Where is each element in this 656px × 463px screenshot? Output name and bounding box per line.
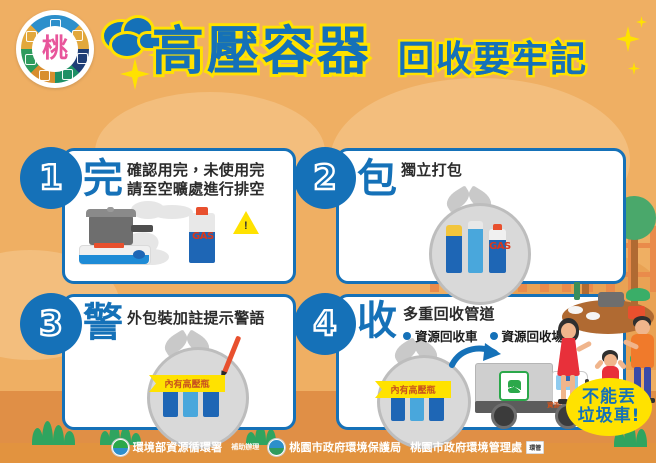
arm (617, 359, 627, 370)
card-step-1[interactable]: 完 確認用完，未使用完 請至空曠處進行排空 GAS (62, 148, 296, 284)
page-title: 高壓容器 高壓容器 回收要牢記 回收要牢記 (130, 20, 650, 100)
can-bottom (446, 236, 462, 273)
footer-note: 補助辦理 (231, 442, 259, 452)
footer-org-3: 桃園市政府環境管理處 環管 (410, 439, 544, 455)
card-3-illustration: 內有高壓瓶 (123, 339, 263, 425)
footer-org-3-label: 桃園市政府環境管理處 (410, 439, 522, 455)
head (635, 320, 650, 335)
pot-handle (131, 225, 153, 232)
ministry-logo-icon (112, 439, 129, 456)
card-step-2[interactable]: 包 獨立打包 GAS (336, 148, 626, 284)
bullet-dot-icon (403, 332, 411, 340)
card-3-desc-line-1: 外包裝加註提示警語 (127, 309, 265, 327)
taoyuan-epb-logo-icon (268, 439, 285, 456)
card-1-illustration: GAS (77, 203, 277, 275)
warning-ribbon: 內有高壓瓶 (149, 375, 225, 392)
stove-knob (133, 250, 145, 259)
card-1-desc-line-1: 確認用完，未使用完 (127, 161, 265, 179)
canister-top (189, 213, 215, 232)
logo-pip (39, 70, 50, 81)
card-step-3[interactable]: 警 外包裝加註提示警語 內有高壓瓶 (62, 294, 296, 430)
gas-label: GAS (192, 231, 214, 242)
card-3-big-char: 警 (83, 303, 123, 343)
bullet-label: 資源回收車 (415, 326, 478, 345)
torso (557, 338, 580, 376)
bush (626, 288, 650, 301)
bullet-dot-icon (490, 332, 498, 340)
canister-cap (196, 207, 208, 215)
truck-wheel (491, 403, 517, 429)
bbq-grill (598, 292, 624, 307)
step-badge-3: 3 (20, 293, 82, 355)
bullet-item: 資源回收車 (403, 326, 478, 345)
step-badge-4: 4 (294, 293, 356, 355)
step-number-4: 4 (313, 307, 337, 341)
stove-flame (94, 243, 124, 248)
card-2-illustration: GAS (421, 195, 531, 277)
can-bottom (468, 229, 483, 273)
title-main: 高壓容器 (152, 26, 372, 78)
step-number-2: 2 (313, 161, 337, 195)
card-2-desc-line-1: 獨立打包 (401, 161, 462, 179)
taoyuan-city-logo: 桃 (16, 10, 94, 88)
logo-pip (50, 19, 61, 30)
plate (586, 312, 600, 320)
torso (631, 334, 654, 368)
can-top (468, 221, 483, 229)
step-badge-2: 2 (294, 147, 356, 209)
footer-org-1-label: 環境部資源循環署 (133, 439, 223, 455)
callout-bubble: 不能丟 垃圾車! (566, 378, 652, 436)
logo-character: 桃 (16, 36, 94, 62)
card-4-desc-line-1: 多重回收管道 (403, 305, 495, 323)
title-sub: 回收要牢記 (398, 42, 588, 78)
can-top (446, 225, 462, 236)
poster-root: 不能丟 垃圾車! 桃 高壓容器 高壓容器 回收要牢記 回收要牢記 完 確認用完，… (0, 0, 656, 463)
warning-ribbon: 內有高壓瓶 (375, 381, 451, 398)
footer-org-2-label: 桃園市政府環境保護局 (289, 439, 401, 455)
arrow-icon (449, 341, 503, 371)
plate (568, 306, 583, 314)
warning-icon (233, 211, 259, 234)
ribbon-label: 內有高壓瓶 (164, 377, 209, 390)
spray-can (446, 225, 462, 273)
card-4-bullets: 資源回收車 資源回收場 (403, 326, 564, 345)
callout-line-1: 不能丟 (582, 388, 636, 407)
steam-puff (151, 205, 193, 219)
leg (561, 375, 566, 401)
logo-pip (62, 69, 73, 80)
card-4-big-char: 收 (357, 301, 397, 341)
pot-knob (107, 207, 114, 212)
bottle (574, 282, 580, 300)
card-1-big-char: 完 (83, 159, 123, 199)
can-cap (493, 224, 502, 230)
card-1-desc-line-2: 請至空曠處進行排空 (127, 180, 265, 198)
footer-org-2: 桃園市政府環境保護局 (268, 439, 401, 456)
footer-chip-label: 環管 (526, 441, 544, 454)
step-badge-1: 1 (20, 147, 82, 209)
can-top (489, 229, 506, 240)
footer-org-1: 環境部資源循環署 (112, 439, 223, 456)
pot (89, 215, 133, 245)
recycling-symbol-icon (499, 371, 529, 401)
card-2-big-char: 包 (357, 159, 397, 199)
head (561, 323, 576, 339)
footer-bar: 環境部資源循環署 補助辦理 桃園市政府環境保護局 桃園市政府環境管理處 環管 (0, 435, 656, 459)
step-number-3: 3 (39, 307, 63, 341)
gas-label: GAS (489, 241, 511, 252)
ribbon-label: 內有高壓瓶 (390, 383, 435, 396)
step-number-1: 1 (39, 161, 63, 195)
spray-can (468, 221, 483, 273)
can-bottom (429, 394, 444, 421)
callout-line-2: 垃圾車! (578, 407, 641, 426)
